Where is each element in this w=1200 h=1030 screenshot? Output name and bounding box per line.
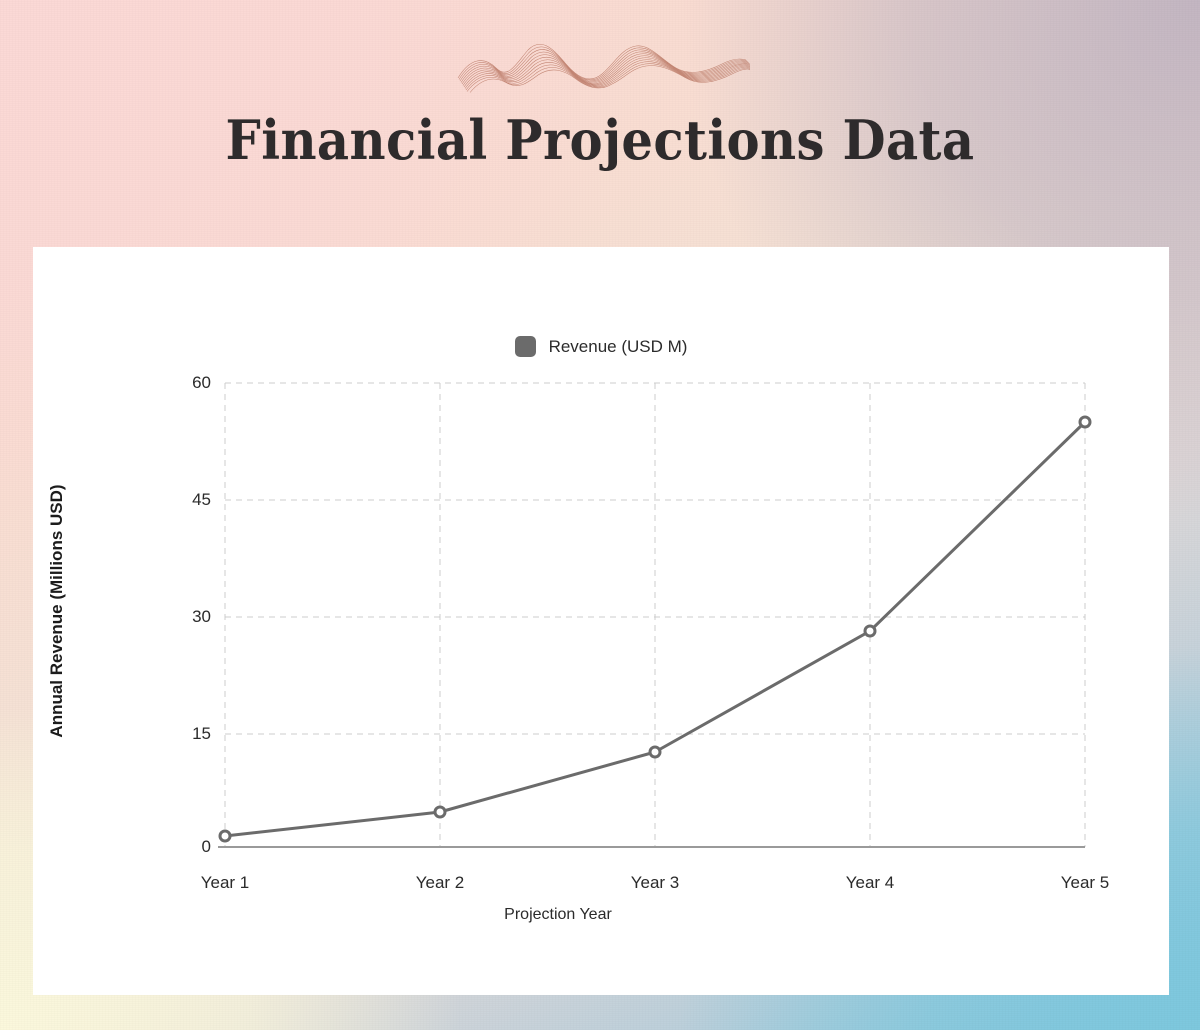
line-chart[interactable]: Revenue (USD M) (33, 247, 1169, 995)
page-title: Financial Projections Data (226, 112, 975, 169)
x-tick-label-year-4: Year 4 (800, 873, 940, 893)
x-tick-label-year-2: Year 2 (370, 873, 510, 893)
x-tick-label-year-5: Year 5 (1015, 873, 1155, 893)
x-tick-label-year-3: Year 3 (585, 873, 725, 893)
vertical-gridlines (225, 383, 1085, 847)
y-tick-label-15: 15 (151, 724, 211, 744)
x-axis-title: Projection Year (33, 906, 1083, 924)
y-tick-label-60: 60 (151, 373, 211, 393)
x-tick-label-year-1: Year 1 (155, 873, 295, 893)
page-header: Financial Projections Data (0, 0, 1200, 232)
plot-area: 60 45 30 15 0 Year 1 Year 2 Year 3 Year … (33, 247, 1169, 995)
y-tick-label-0: 0 (151, 837, 211, 857)
y-axis-title: Annual Revenue (Millions USD) (47, 401, 67, 821)
chart-card: Revenue (USD M) (33, 247, 1169, 995)
y-tick-label-30: 30 (151, 607, 211, 627)
y-tick-label-45: 45 (151, 490, 211, 510)
wave-line-art-ornament (450, 34, 750, 96)
